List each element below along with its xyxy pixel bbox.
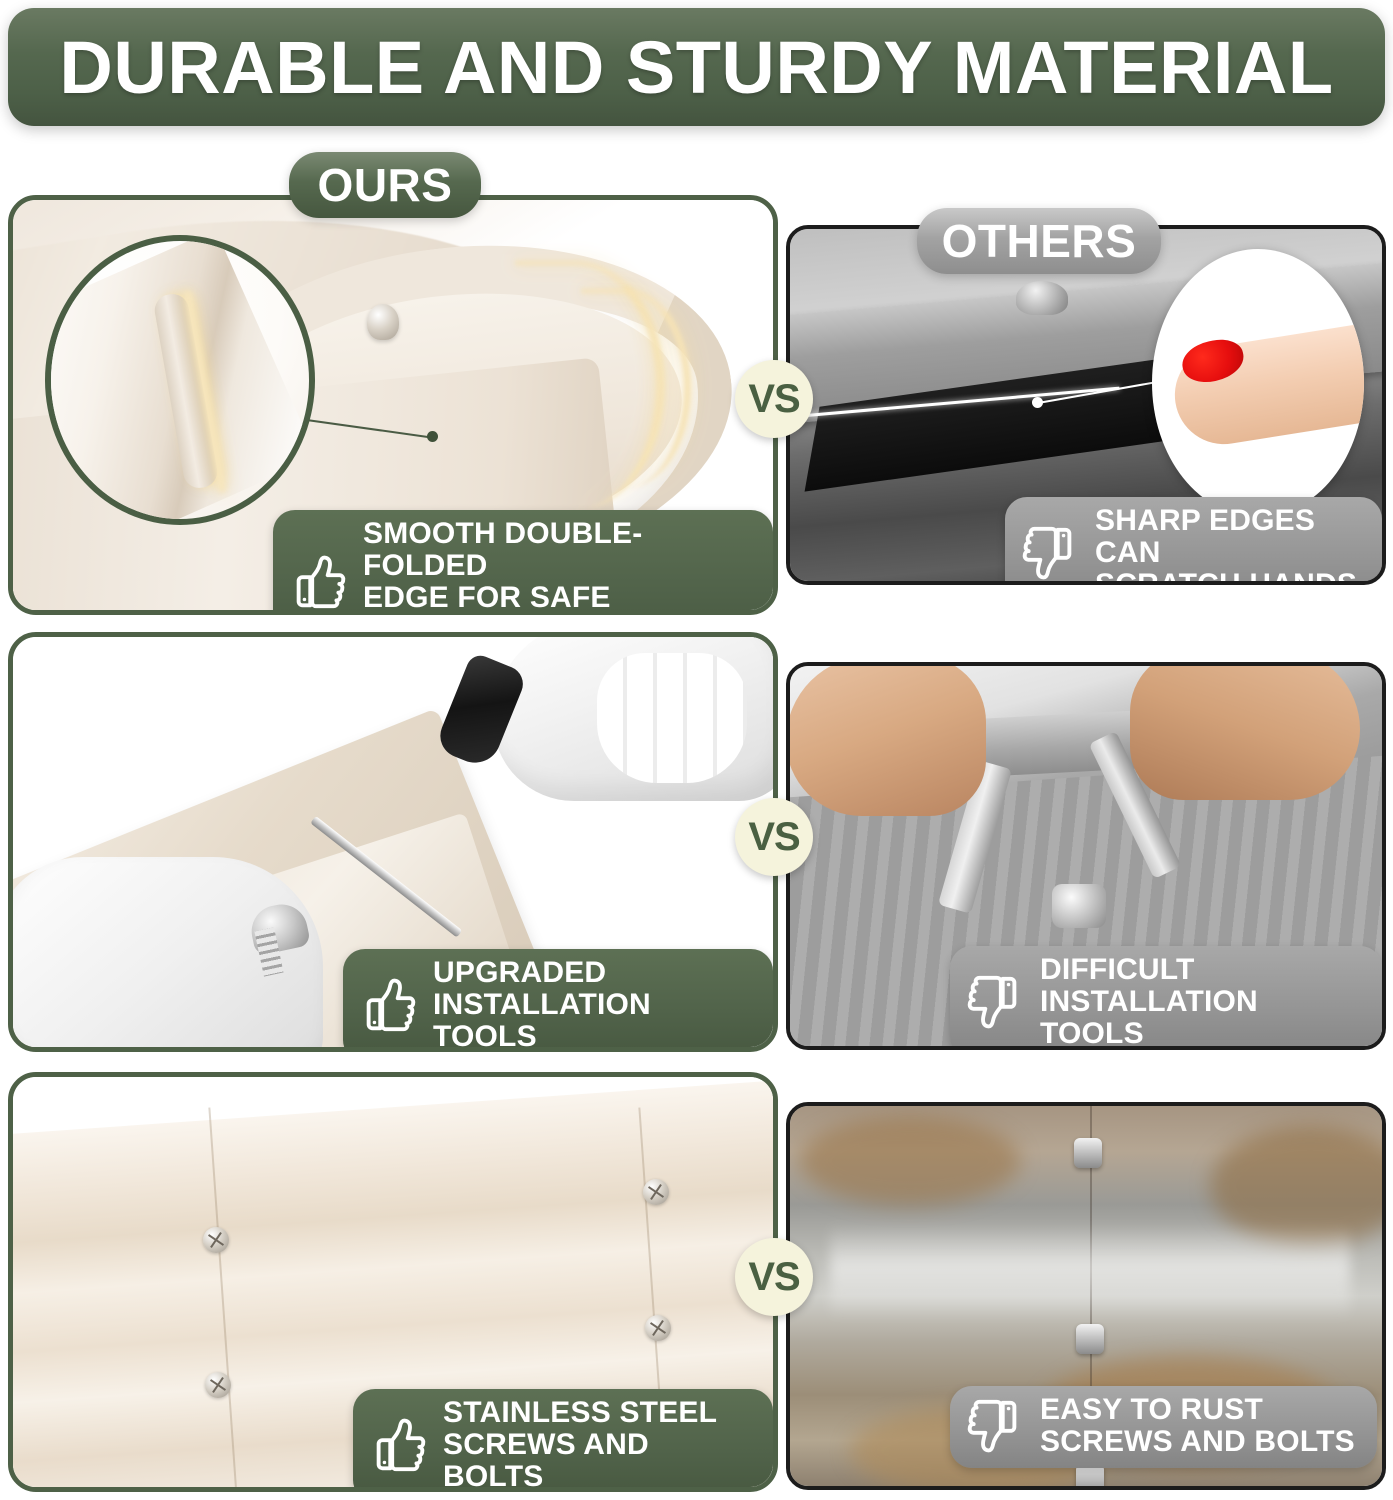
caption-ours-row2-text: UPGRADED INSTALLATION TOOLS [433,957,751,1052]
column-label-ours: OURS [289,152,481,218]
stainless-screw-icon [643,1179,669,1205]
callout-leader-dot [427,431,438,442]
caption-ours-row2: UPGRADED INSTALLATION TOOLS [343,949,773,1052]
comparison-row-2: UPGRADED INSTALLATION TOOLS DIFFICULT IN… [0,632,1393,1052]
caption-others-row3: EASY TO RUST SCREWS AND BOLTS [950,1386,1377,1468]
header-banner: DURABLE AND STURDY MATERIAL [8,8,1385,126]
comparison-row-3: STAINLESS STEEL SCREWS AND BOLTS [0,1072,1393,1492]
caption-ours-row3-text: STAINLESS STEEL SCREWS AND BOLTS [443,1397,751,1492]
caption-ours-row1-text: SMOOTH DOUBLE-FOLDED EDGE FOR SAFE HANDL… [363,518,751,615]
thumbs-up-icon [287,551,349,613]
hex-nut-icon [1052,884,1106,928]
caption-ours-row1: SMOOTH DOUBLE-FOLDED EDGE FOR SAFE HANDL… [273,510,773,615]
panel-ours-edge: SMOOTH DOUBLE-FOLDED EDGE FOR SAFE HANDL… [8,195,778,615]
thumbs-up-icon [357,974,419,1036]
caption-others-row1: SHARP EDGES CAN SCRATCH HANDS [1005,497,1382,585]
caption-others-row2: DIFFICULT INSTALLATION TOOLS [950,946,1382,1050]
screw-knob-icon [367,304,399,340]
panel-ours-screws: STAINLESS STEEL SCREWS AND BOLTS [8,1072,778,1492]
panel-ours-tools: UPGRADED INSTALLATION TOOLS [8,632,778,1052]
panel-others-screws: EASY TO RUST SCREWS AND BOLTS [786,1102,1386,1490]
thumbs-up-icon [367,1414,429,1476]
column-label-others: OTHERS [917,208,1161,274]
magnifier-inset-folded-edge [45,235,315,525]
vs-badge-row2: VS [735,798,813,876]
panel-others-tools: DIFFICULT INSTALLATION TOOLS [786,662,1386,1050]
rusty-bolt-icon [1076,1324,1104,1354]
rusty-bolt-icon [1076,1464,1104,1490]
panel-others-edge: SHARP EDGES CAN SCRATCH HANDS [786,225,1386,585]
metal-bolt-icon [1016,281,1068,315]
thumbs-down-icon [1019,522,1081,584]
caption-others-row2-text: DIFFICULT INSTALLATION TOOLS [1040,954,1360,1049]
thumbs-down-icon [964,971,1026,1033]
thumbs-down-icon [964,1395,1026,1457]
rusty-bolt-icon [1074,1138,1102,1168]
magnifier-inset-cut-finger [1152,249,1364,517]
stainless-screw-icon [645,1315,671,1341]
comparison-row-1: SMOOTH DOUBLE-FOLDED EDGE FOR SAFE HANDL… [0,195,1393,615]
stainless-screw-icon [203,1227,229,1253]
callout-leader-dot [1032,397,1043,408]
caption-ours-row3: STAINLESS STEEL SCREWS AND BOLTS [353,1389,773,1492]
caption-others-row1-text: SHARP EDGES CAN SCRATCH HANDS [1095,505,1360,585]
vs-badge-row3: VS [735,1238,813,1316]
bare-hand-left [786,662,986,816]
stainless-screw-icon [205,1372,231,1398]
bare-hand-right [1130,662,1360,800]
caption-others-row3-text: EASY TO RUST SCREWS AND BOLTS [1040,1394,1355,1458]
page-title: DURABLE AND STURDY MATERIAL [59,25,1333,110]
vs-badge-row1: VS [735,360,813,438]
